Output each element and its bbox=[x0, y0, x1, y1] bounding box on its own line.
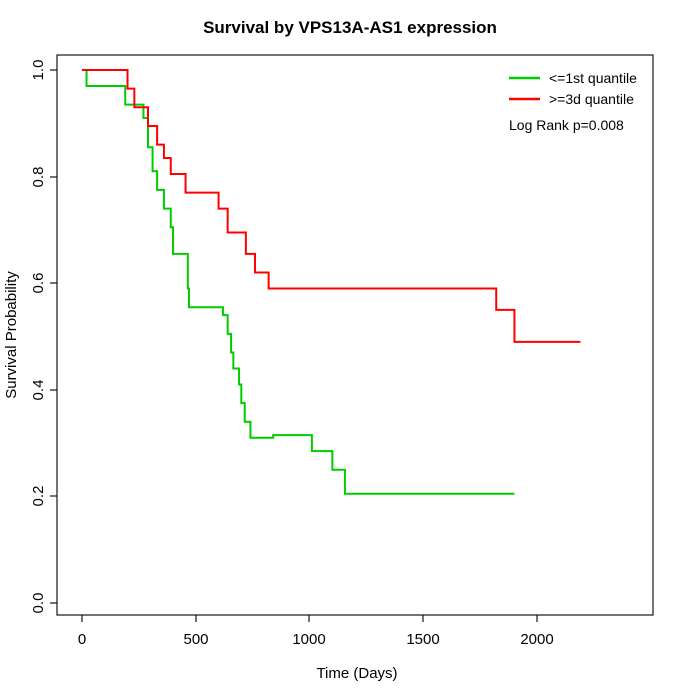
survival-curve-high-quantile bbox=[82, 70, 580, 342]
y-axis-ticks bbox=[50, 70, 57, 603]
y-tick-label-2: 0.4 bbox=[30, 380, 47, 401]
y-tick-label-0: 0.0 bbox=[30, 593, 47, 614]
y-tick-label-1: 0.2 bbox=[30, 486, 47, 507]
y-tick-label-5: 1.0 bbox=[30, 60, 47, 81]
y-axis-tick-labels: 0.0 0.2 0.4 0.6 0.8 1.0 bbox=[30, 60, 47, 614]
x-axis-title: Time (Days) bbox=[316, 665, 397, 682]
x-tick-label-3: 1500 bbox=[406, 631, 439, 648]
survival-chart: Survival by VPS13A-AS1 expression 0.0 0.… bbox=[0, 0, 700, 700]
log-rank-pvalue-label: Log Rank p=0.008 bbox=[509, 117, 624, 133]
survival-curves bbox=[82, 70, 580, 494]
y-tick-label-3: 0.6 bbox=[30, 273, 47, 294]
survival-plot-root: Survival by VPS13A-AS1 expression 0.0 0.… bbox=[0, 0, 700, 700]
legend-label-high-quantile: >=3d quantile bbox=[549, 91, 634, 107]
survival-curve-low-quantile bbox=[82, 70, 514, 494]
y-tick-label-4: 0.8 bbox=[30, 167, 47, 188]
x-tick-label-4: 2000 bbox=[520, 631, 553, 648]
x-axis-tick-labels: 0 500 1000 1500 2000 bbox=[78, 631, 554, 648]
x-axis-ticks bbox=[82, 615, 537, 622]
legend: <=1st quantile >=3d quantile bbox=[509, 70, 637, 107]
x-tick-label-0: 0 bbox=[78, 631, 86, 648]
y-axis-title: Survival Probability bbox=[3, 271, 20, 399]
legend-label-low-quantile: <=1st quantile bbox=[549, 70, 637, 86]
page-title: Survival by VPS13A-AS1 expression bbox=[203, 18, 497, 37]
x-tick-label-1: 500 bbox=[183, 631, 208, 648]
x-tick-label-2: 1000 bbox=[292, 631, 325, 648]
plot-frame bbox=[57, 55, 653, 615]
